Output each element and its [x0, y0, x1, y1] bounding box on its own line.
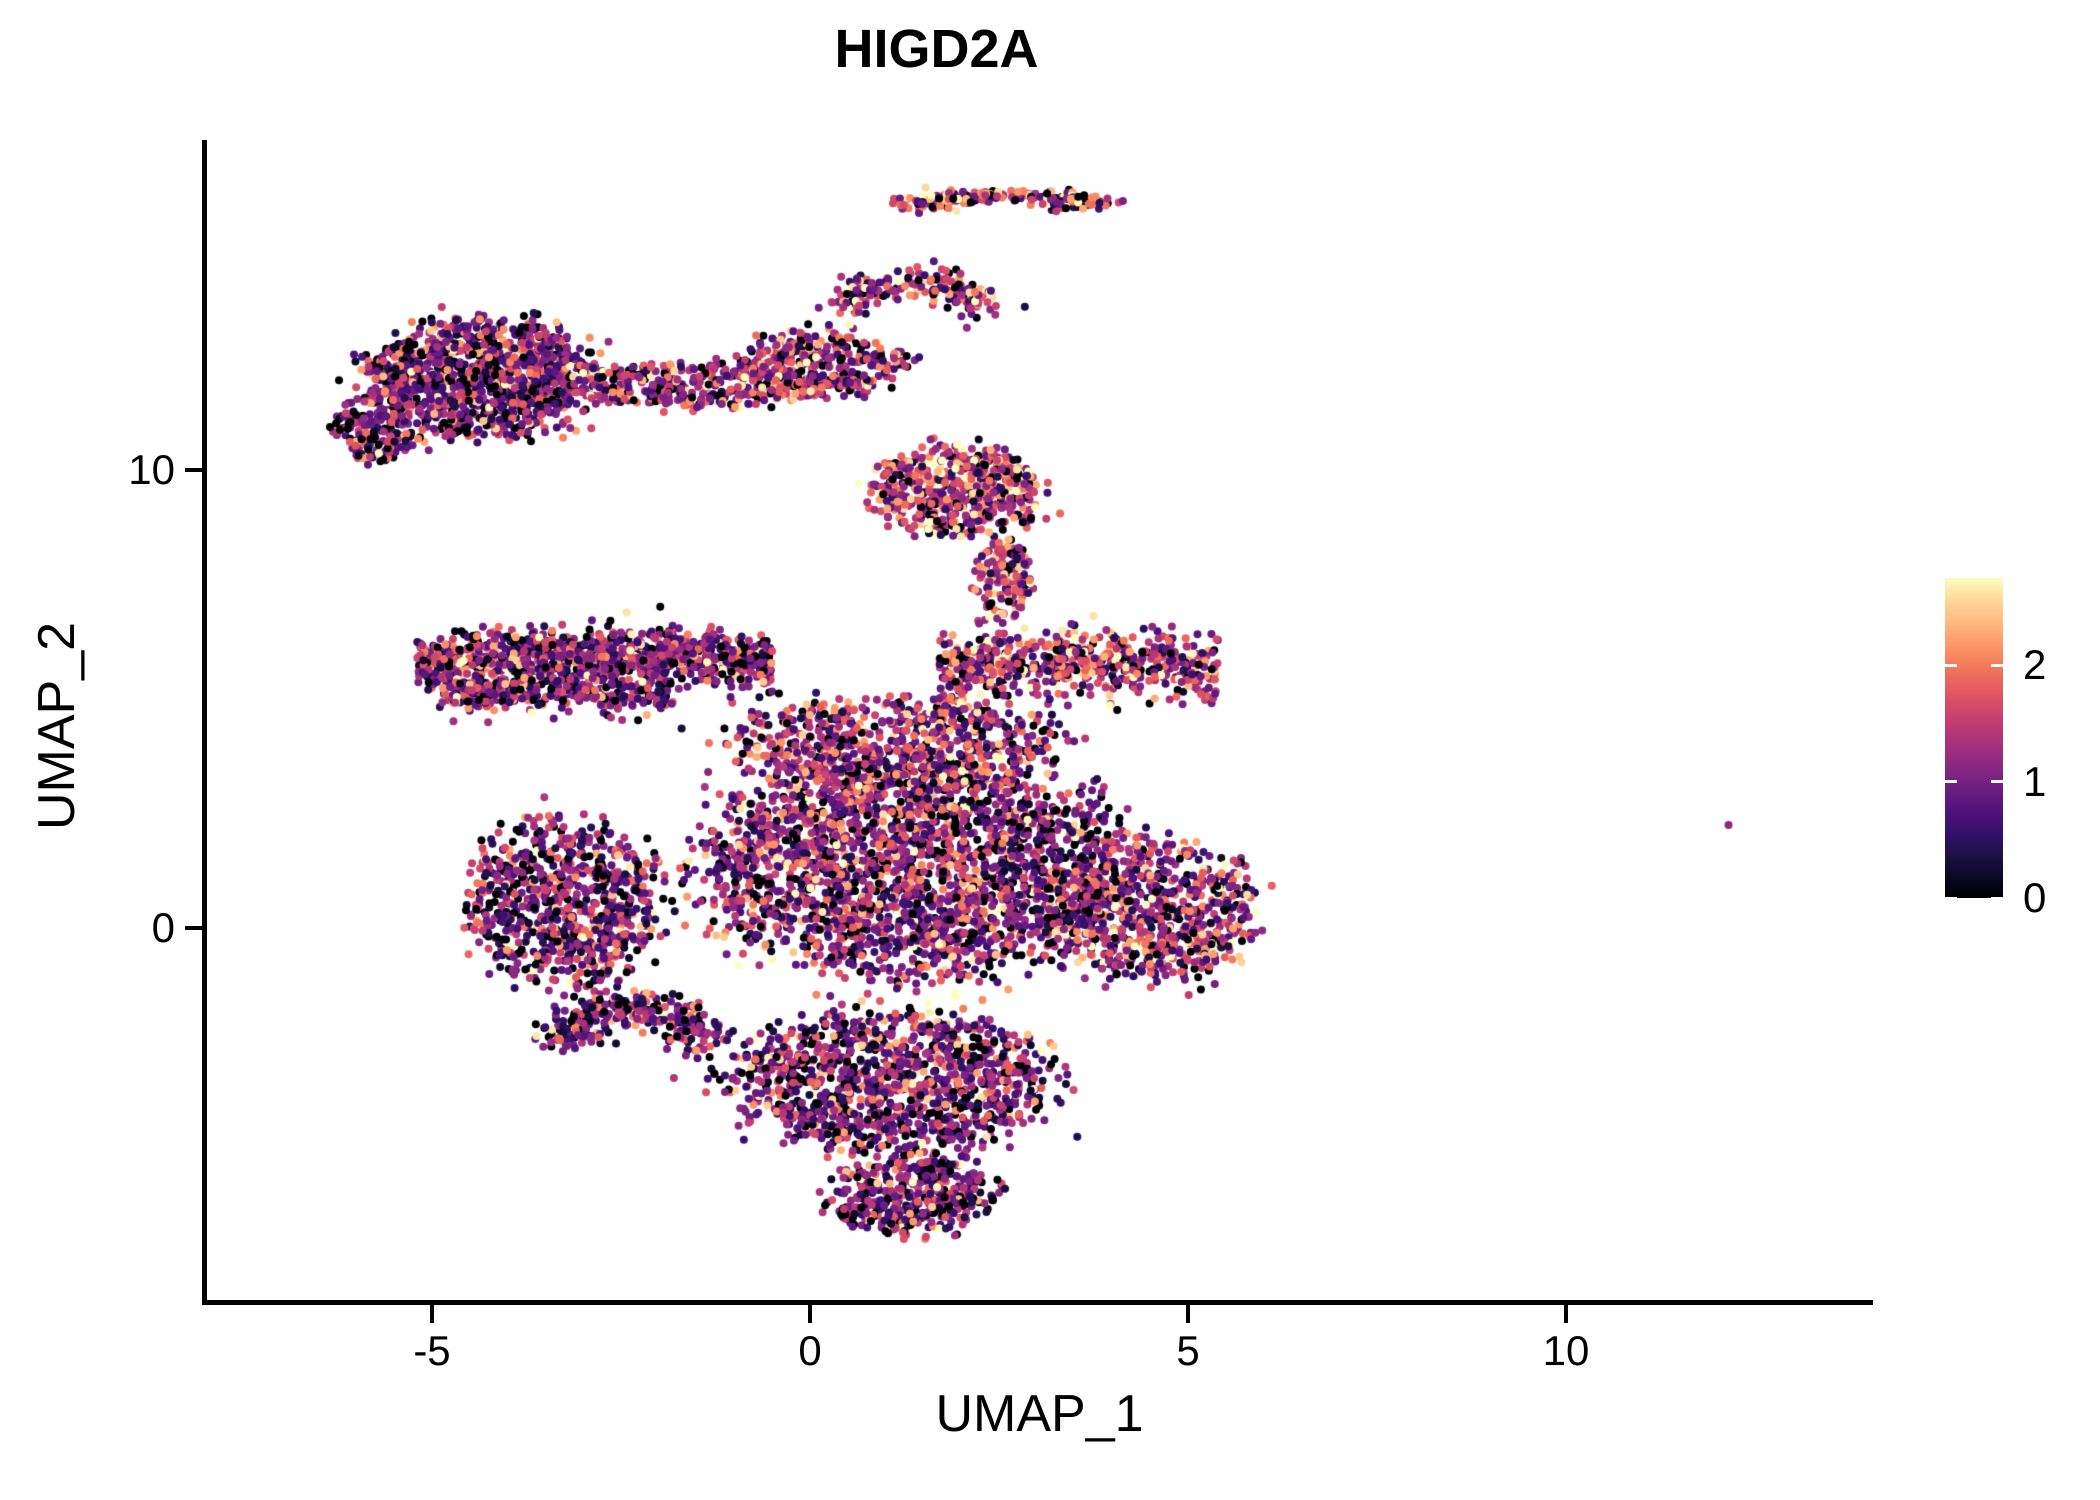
colorbar-tick-mark [1991, 780, 2003, 783]
x-tick-label: 0 [798, 1330, 821, 1372]
x-axis-title: UMAP_1 [206, 1388, 1873, 1440]
colorbar-tick-mark [1945, 664, 1957, 667]
x-tick-mark [430, 1305, 434, 1323]
y-tick-mark [185, 468, 203, 472]
colorbar-gradient [1945, 578, 2003, 898]
colorbar-tick-mark [1991, 664, 2003, 667]
x-tick-label: -5 [413, 1330, 450, 1372]
y-tick-label: 0 [152, 907, 175, 949]
y-tick-mark [185, 926, 203, 930]
colorbar-tick-label: 0 [2023, 877, 2046, 919]
x-tick-mark [1186, 1305, 1190, 1323]
y-axis-title: UMAP_2 [31, 426, 83, 1026]
colorbar-tick-mark [1991, 897, 2003, 900]
y-axis-line [202, 140, 207, 1305]
colorbar-tick-label: 2 [2023, 644, 2046, 686]
colorbar-tick-mark [1945, 780, 1957, 783]
x-tick-mark [808, 1305, 812, 1323]
x-tick-label: 10 [1543, 1330, 1590, 1372]
colorbar-tick-label: 1 [2023, 761, 2046, 803]
x-tick-mark [1564, 1305, 1568, 1323]
colorbar-legend: 012 [1945, 578, 2085, 900]
colorbar-tick-mark [1945, 897, 1957, 900]
plot-panel [206, 140, 1873, 1302]
scatter-plot-canvas [206, 140, 1873, 1302]
figure-root: HIGD2A 010 -50510 UMAP_2 UMAP_1 012 [0, 0, 2100, 1500]
page-title: HIGD2A [0, 22, 1873, 76]
y-tick-label: 10 [128, 449, 175, 491]
x-axis-line [202, 1300, 1873, 1305]
x-tick-label: 5 [1176, 1330, 1199, 1372]
